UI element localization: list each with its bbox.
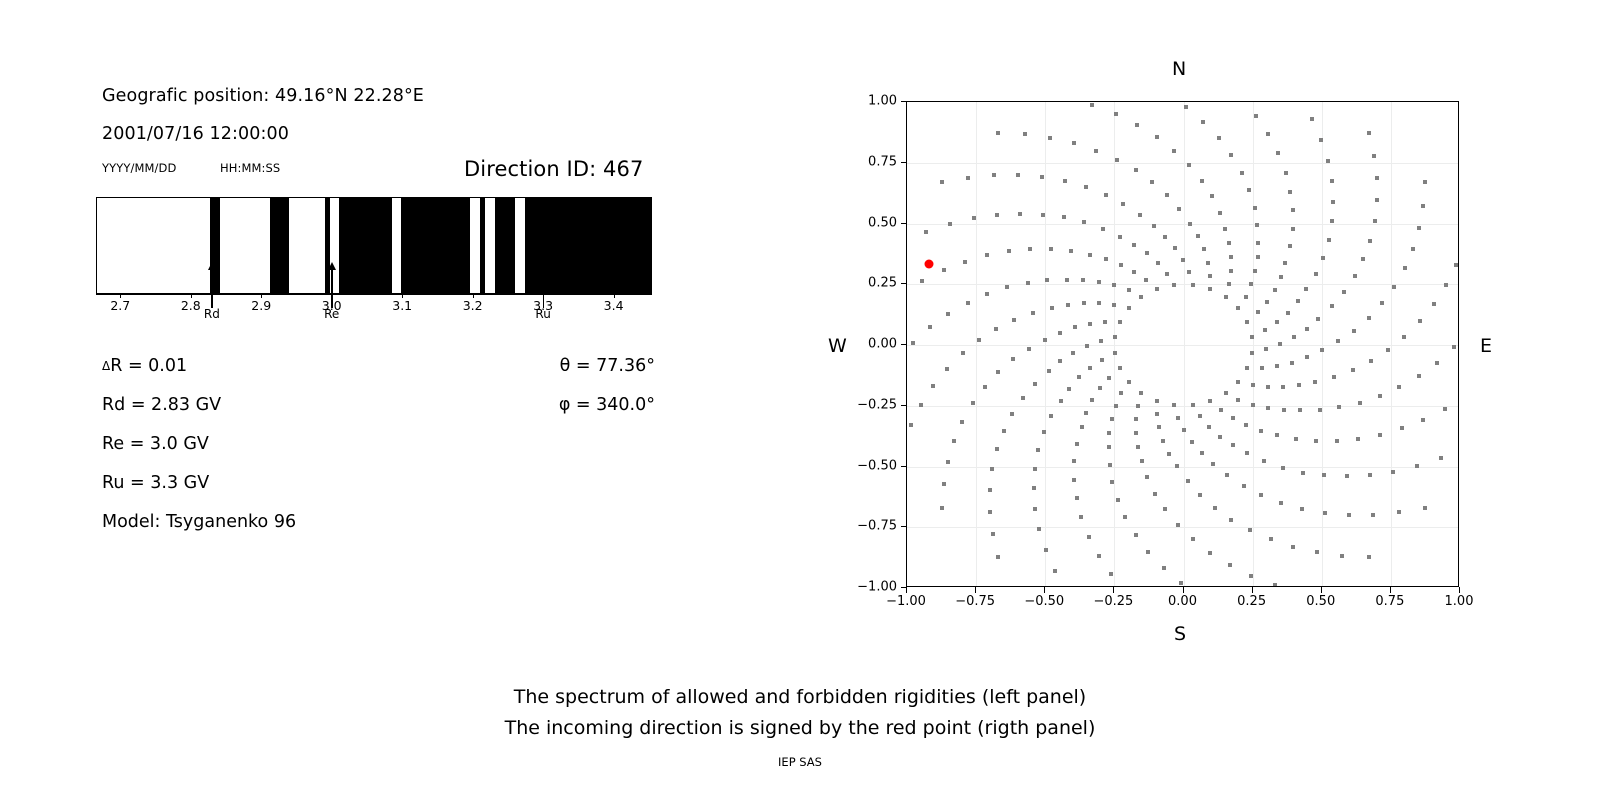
direction-point	[1423, 180, 1427, 184]
direction-point	[1368, 239, 1372, 243]
direction-point	[1005, 285, 1009, 289]
y-axis-tick-mark	[901, 405, 907, 406]
direction-point	[1423, 506, 1427, 510]
direction-point	[1332, 375, 1336, 379]
direction-point	[1049, 414, 1053, 418]
param-ru: Ru = 3.3 GV	[102, 473, 209, 493]
direction-point	[1132, 243, 1136, 247]
direction-point	[1146, 550, 1150, 554]
direction-point	[1144, 278, 1148, 282]
direction-point	[940, 180, 944, 184]
direction-point	[1275, 364, 1279, 368]
direction-point	[1027, 347, 1031, 351]
direction-point	[1375, 176, 1379, 180]
y-axis-tick-mark	[901, 101, 907, 102]
direction-point	[1353, 274, 1357, 278]
y-axis-tick-label: −1.00	[857, 580, 897, 595]
direction-point	[1082, 220, 1086, 224]
direction-point	[1002, 429, 1006, 433]
param-theta: θ = 77.36°	[455, 356, 655, 376]
direction-point	[1032, 486, 1036, 490]
direction-point	[996, 555, 1000, 559]
gridline-vertical	[1253, 102, 1254, 586]
direction-point	[992, 173, 996, 177]
direction-point	[1256, 255, 1260, 259]
direction-point	[1177, 207, 1181, 211]
direction-point	[1138, 213, 1142, 217]
direction-point	[948, 222, 952, 226]
direction-point	[1219, 408, 1223, 412]
direction-point	[1172, 283, 1176, 287]
compass-east-label: E	[1480, 335, 1492, 357]
direction-point	[1155, 412, 1159, 416]
direction-point	[1119, 391, 1123, 395]
direction-point	[1266, 385, 1270, 389]
direction-point	[1198, 493, 1202, 497]
direction-point	[1402, 335, 1406, 339]
direction-point	[1367, 555, 1371, 559]
direction-point	[945, 367, 949, 371]
direction-point	[1415, 464, 1419, 468]
direction-point	[1250, 351, 1254, 355]
direction-point	[1016, 173, 1020, 177]
direction-point	[1134, 533, 1138, 537]
direction-point	[1201, 120, 1205, 124]
direction-point	[1229, 269, 1233, 273]
direction-point	[1200, 179, 1204, 183]
direction-point	[1375, 198, 1379, 202]
direction-point	[1165, 272, 1169, 276]
direction-point	[1134, 417, 1138, 421]
direction-point	[1245, 366, 1249, 370]
direction-point	[1421, 418, 1425, 422]
direction-point	[1156, 261, 1160, 265]
direction-point	[1227, 282, 1231, 286]
direction-point	[1305, 327, 1309, 331]
direction-point	[952, 439, 956, 443]
gridline-vertical	[1045, 102, 1046, 586]
x-axis-tick-mark	[1183, 587, 1184, 593]
direction-point	[1224, 391, 1228, 395]
axis-line	[96, 294, 652, 295]
direction-point	[1340, 554, 1344, 558]
y-axis-tick-label: 0.75	[868, 154, 897, 169]
direction-point	[1187, 163, 1191, 167]
direction-point	[1115, 158, 1119, 162]
direction-point	[1435, 361, 1439, 365]
direction-point	[1040, 175, 1044, 179]
direction-point	[1372, 154, 1376, 158]
direction-point	[1155, 399, 1159, 403]
time-format-hint: HH:MM:SS	[220, 161, 280, 175]
direction-point	[966, 301, 970, 305]
marker-shaft	[543, 268, 544, 308]
direction-point	[1077, 375, 1081, 379]
caption-line-1: The spectrum of allowed and forbidden ri…	[0, 682, 1600, 713]
axis-tick-label: 2.7	[110, 298, 130, 313]
direction-point	[1400, 426, 1404, 430]
direction-point	[1208, 551, 1212, 555]
direction-point	[1084, 185, 1088, 189]
direction-point	[990, 467, 994, 471]
x-axis-tick-label: −0.25	[1093, 594, 1133, 609]
x-axis-tick-label: 0.25	[1237, 594, 1266, 609]
direction-point	[1026, 281, 1030, 285]
left-panel: Geografic position: 49.16°N 22.28°E 2001…	[0, 0, 800, 660]
direction-point	[1217, 136, 1221, 140]
param-model: Model: Tsyganenko 96	[102, 512, 296, 532]
direction-point	[1075, 496, 1079, 500]
direction-point	[1236, 380, 1240, 384]
direction-point	[1229, 518, 1233, 522]
axis-tick-label: 3.1	[392, 298, 412, 313]
direction-point	[1278, 342, 1282, 346]
direction-point	[1176, 523, 1180, 527]
direction-point	[1229, 153, 1233, 157]
direction-point	[1326, 159, 1330, 163]
direction-point	[1279, 501, 1283, 505]
direction-point	[1254, 114, 1258, 118]
direction-point	[1296, 299, 1300, 303]
x-axis-tick-label: −0.75	[955, 594, 995, 609]
direction-point	[946, 312, 950, 316]
y-axis-tick-mark	[901, 466, 907, 467]
direction-point	[1371, 513, 1375, 517]
direction-point	[1033, 382, 1037, 386]
direction-point	[1139, 295, 1143, 299]
direction-point	[1033, 467, 1037, 471]
direction-point	[1097, 554, 1101, 558]
direction-point	[1253, 206, 1257, 210]
direction-point	[1028, 247, 1032, 251]
direction-point	[1224, 295, 1228, 299]
direction-point	[1021, 396, 1025, 400]
direction-point	[1045, 278, 1049, 282]
direction-point	[995, 447, 999, 451]
direction-point	[909, 423, 913, 427]
direction-point	[1275, 433, 1279, 437]
axis-tick-label: 2.9	[251, 298, 271, 313]
direction-point	[1281, 385, 1285, 389]
marker-shaft	[331, 268, 332, 308]
direction-point	[1358, 401, 1362, 405]
direction-point	[1250, 335, 1254, 339]
direction-point	[1284, 171, 1288, 175]
direction-point	[1240, 171, 1244, 175]
direction-point	[1266, 406, 1270, 410]
direction-point	[1249, 282, 1253, 286]
direction-point	[1361, 257, 1365, 261]
direction-point	[1330, 179, 1334, 183]
direction-point	[1297, 383, 1301, 387]
param-delta-r-value: R = 0.01	[110, 356, 187, 376]
direction-point	[1084, 411, 1088, 415]
gridline-horizontal	[907, 163, 1458, 164]
direction-point	[1191, 283, 1195, 287]
direction-point	[1072, 141, 1076, 145]
geographic-position-label: Geografic position: 49.16°N 22.28°E	[102, 86, 424, 106]
direction-point	[983, 385, 987, 389]
direction-point	[977, 338, 981, 342]
y-axis-tick-mark	[901, 162, 907, 163]
direction-point	[1161, 439, 1165, 443]
direction-point	[1184, 105, 1188, 109]
direction-point	[1266, 132, 1270, 136]
direction-point	[985, 292, 989, 296]
direction-point	[1256, 241, 1260, 245]
direction-point	[1104, 193, 1108, 197]
direction-point	[1245, 451, 1249, 455]
direction-point	[1088, 366, 1092, 370]
direction-point	[1288, 190, 1292, 194]
direction-point	[1251, 403, 1255, 407]
direction-point	[1236, 398, 1240, 402]
direction-point	[1112, 303, 1116, 307]
direction-point	[1291, 227, 1295, 231]
direction-point	[1067, 387, 1071, 391]
direction-point	[1229, 255, 1233, 259]
direction-point	[1163, 235, 1167, 239]
direction-point	[1155, 287, 1159, 291]
direction-point	[1062, 215, 1066, 219]
incoming-direction-point	[925, 259, 934, 268]
direction-point	[1187, 270, 1191, 274]
compass-west-label: W	[828, 335, 847, 357]
direction-point	[1145, 475, 1149, 479]
direction-point	[1097, 301, 1101, 305]
gridline-horizontal	[907, 224, 1458, 225]
direction-point	[1227, 241, 1231, 245]
direction-point	[1139, 391, 1143, 395]
gridline-vertical	[1391, 102, 1392, 586]
direction-point	[1049, 247, 1053, 251]
direction-point	[931, 384, 935, 388]
direction-point	[1107, 431, 1111, 435]
direction-point	[1417, 374, 1421, 378]
direction-point	[1276, 151, 1280, 155]
y-axis-tick-label: 0.50	[868, 215, 897, 230]
direction-point	[1314, 439, 1318, 443]
direction-point	[1152, 224, 1156, 228]
param-re: Re = 3.0 GV	[102, 434, 209, 454]
y-axis-tick-mark	[901, 526, 907, 527]
direction-point	[1069, 249, 1073, 253]
gridline-horizontal	[907, 345, 1458, 346]
direction-point	[1259, 493, 1263, 497]
direction-point	[1345, 474, 1349, 478]
x-axis-tick-label: 0.50	[1306, 594, 1335, 609]
direction-point	[1113, 335, 1117, 339]
direction-point	[1118, 366, 1122, 370]
direction-point	[1223, 227, 1227, 231]
direction-point	[1244, 423, 1248, 427]
direction-point	[1301, 471, 1305, 475]
direction-point	[1110, 417, 1114, 421]
direction-point	[1452, 345, 1456, 349]
direction-point	[1065, 278, 1069, 282]
y-axis-tick-label: 1.00	[868, 94, 897, 109]
direction-point	[1087, 535, 1091, 539]
direction-point	[1264, 347, 1268, 351]
direction-point	[1397, 510, 1401, 514]
direction-point	[1208, 274, 1212, 278]
direction-point	[1368, 473, 1372, 477]
direction-point	[1286, 311, 1290, 315]
direction-point	[1136, 445, 1140, 449]
direction-point	[1236, 306, 1240, 310]
direction-point	[919, 403, 923, 407]
direction-point	[946, 460, 950, 464]
date-format-hint: YYYY/MM/DD	[102, 161, 176, 175]
direction-point	[1292, 335, 1296, 339]
direction-point	[1273, 583, 1277, 587]
direction-point	[1066, 303, 1070, 307]
direction-point	[1439, 456, 1443, 460]
direction-point	[1135, 123, 1139, 127]
direction-point	[1173, 246, 1177, 250]
direction-point	[1380, 301, 1384, 305]
compass-north-label: N	[1172, 58, 1186, 80]
forbidden-band	[325, 198, 330, 293]
direction-point	[1042, 430, 1046, 434]
direction-point	[1063, 179, 1067, 183]
direction-point	[1116, 498, 1120, 502]
forbidden-band	[270, 198, 290, 293]
direction-point	[1200, 451, 1204, 455]
direction-point	[1231, 416, 1235, 420]
direction-point	[1097, 280, 1101, 284]
direction-point	[1179, 581, 1183, 585]
direction-point	[1145, 251, 1149, 255]
x-axis-tick-mark	[1321, 587, 1322, 593]
direction-point	[1294, 437, 1298, 441]
direction-point	[1181, 258, 1185, 262]
direction-point	[1103, 320, 1107, 324]
direction-point	[1098, 386, 1102, 390]
direction-point	[1196, 234, 1200, 238]
direction-point	[1411, 247, 1415, 251]
direction-point	[1202, 247, 1206, 251]
direction-point	[1072, 478, 1076, 482]
direction-point	[1315, 550, 1319, 554]
direction-point	[1314, 272, 1318, 276]
direction-point	[1218, 211, 1222, 215]
direction-point	[1310, 117, 1314, 121]
direction-point	[1206, 261, 1210, 265]
direction-point	[1162, 566, 1166, 570]
direction-point	[1136, 404, 1140, 408]
direction-point	[1031, 311, 1035, 315]
direction-point	[1248, 528, 1252, 532]
direction-point	[1208, 399, 1212, 403]
direction-point	[1244, 295, 1248, 299]
direction-point	[1291, 208, 1295, 212]
direction-point	[1304, 287, 1308, 291]
direction-point	[1320, 348, 1324, 352]
direction-point	[1275, 320, 1279, 324]
direction-point	[1088, 253, 1092, 257]
direction-point	[1123, 515, 1127, 519]
direction-point	[1322, 473, 1326, 477]
direction-point	[1260, 366, 1264, 370]
marker-label: Rd	[204, 307, 220, 321]
y-axis-tick-mark	[901, 344, 907, 345]
direction-point	[1165, 193, 1169, 197]
direction-point	[1047, 369, 1051, 373]
direction-point	[966, 176, 970, 180]
compass-south-label: S	[1174, 623, 1186, 645]
direction-point	[1211, 462, 1215, 466]
direction-point	[1208, 287, 1212, 291]
direction-point	[1107, 445, 1111, 449]
direction-point	[1256, 310, 1260, 314]
direction-point	[1127, 306, 1131, 310]
y-axis-tick-mark	[901, 283, 907, 284]
direction-point	[1207, 425, 1211, 429]
direction-point	[1118, 320, 1122, 324]
direction-point	[1134, 168, 1138, 172]
direction-point	[1075, 442, 1079, 446]
direction-point	[1300, 507, 1304, 511]
x-axis-tick-label: −0.50	[1024, 594, 1064, 609]
direction-point	[972, 216, 976, 220]
direction-point	[1210, 194, 1214, 198]
direction-point	[1036, 448, 1040, 452]
direction-point	[1454, 263, 1458, 267]
direction-point	[1342, 290, 1346, 294]
forbidden-band	[339, 198, 391, 293]
direction-point	[1012, 318, 1016, 322]
direction-point	[996, 131, 1000, 135]
direction-point	[1100, 358, 1104, 362]
direction-point	[1118, 235, 1122, 239]
direction-point	[1050, 306, 1054, 310]
axis-tick-label: 2.8	[181, 298, 201, 313]
direction-point	[942, 482, 946, 486]
x-axis-tick-label: −1.00	[886, 594, 926, 609]
direction-point	[1367, 316, 1371, 320]
direction-point	[1418, 319, 1422, 323]
direction-point	[991, 532, 995, 536]
direction-point	[1298, 408, 1302, 412]
direction-point	[1018, 212, 1022, 216]
direction-point	[1265, 300, 1269, 304]
direction-point	[1335, 439, 1339, 443]
direction-point	[1392, 285, 1396, 289]
direction-point	[928, 325, 932, 329]
direction-point	[1023, 132, 1027, 136]
x-axis-tick-mark	[1459, 587, 1460, 593]
direction-point	[1114, 112, 1118, 116]
direction-point	[1290, 361, 1294, 365]
direction-point	[1352, 329, 1356, 333]
direction-point	[1080, 425, 1084, 429]
direction-point	[1079, 515, 1083, 519]
right-panel: N S W E −1.00−0.75−0.50−0.250.000.250.50…	[800, 0, 1600, 660]
direction-point	[1367, 131, 1371, 135]
direction-point	[963, 260, 967, 264]
direction-point	[1263, 328, 1267, 332]
direction-point	[1182, 428, 1186, 432]
x-axis-tick-mark	[1044, 587, 1045, 593]
direction-point	[1281, 466, 1285, 470]
direction-point	[1218, 435, 1222, 439]
param-rd: Rd = 2.83 GV	[102, 395, 221, 415]
direction-point	[1391, 470, 1395, 474]
gridline-vertical	[1114, 102, 1115, 586]
x-axis-tick-mark	[1390, 587, 1391, 593]
direction-point	[1150, 180, 1154, 184]
